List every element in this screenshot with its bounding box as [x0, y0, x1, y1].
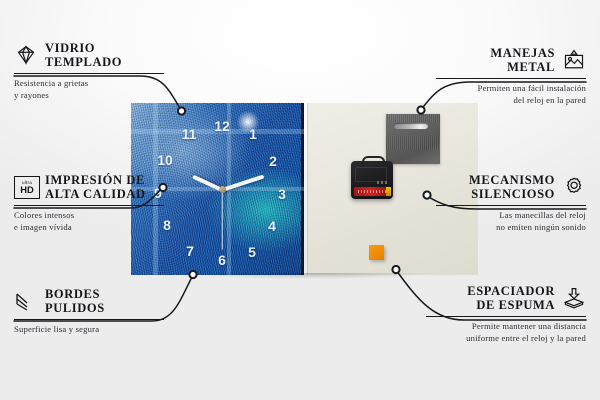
- ultra-hd-icon-big-text: HD: [20, 185, 34, 195]
- callout-divider: [426, 316, 586, 317]
- clock-numeral-2: 2: [264, 154, 282, 168]
- metal-hanger-plate: [386, 114, 440, 164]
- product-photo-group: 12 1 2 3 4 5 6 7 8 9 10 11: [131, 103, 478, 275]
- foam-spacer-arrow-icon: [562, 286, 586, 310]
- battery-label-stripes: [358, 190, 386, 193]
- clock-numeral-5: 5: [243, 245, 261, 259]
- callout-divider: [14, 205, 164, 206]
- callout-subtitle-line-2: del reloj en la pared: [436, 95, 586, 107]
- callout-header: VIDRIO TEMPLADO: [14, 41, 164, 69]
- callout-title: MECANISMO SILENCIOSO: [469, 173, 555, 201]
- callout-subtitle-line-1: Resistencia a grietas: [14, 78, 164, 90]
- movement-seam: [355, 167, 387, 182]
- callout-subtitle-line-1: Superficie lisa y segura: [14, 324, 164, 336]
- clock-numeral-10: 10: [156, 153, 174, 167]
- callout-title: IMPRESIÓN DE ALTA CALIDAD: [45, 173, 146, 201]
- callout-tempered-glass: VIDRIO TEMPLADO Resistencia a grietas y …: [14, 41, 164, 101]
- gear-icon: [562, 175, 586, 199]
- callout-subtitle-line-2: y rayones: [14, 90, 164, 102]
- movement-vent-dots: [377, 181, 389, 184]
- callout-header: MANEJAS METAL: [436, 46, 586, 74]
- callout-header: ESPACIADOR DE ESPUMA: [426, 284, 586, 312]
- callout-subtitle-line-1: Permite mantener una distancia: [426, 321, 586, 333]
- callout-subtitle-line-2: e imagen vívida: [14, 222, 164, 234]
- callout-subtitle-line-1: Permiten una fácil instalación: [436, 83, 586, 95]
- clock-numeral-4: 4: [263, 219, 281, 233]
- diamond-icon: [14, 43, 38, 67]
- callout-foam-spacer: ESPACIADOR DE ESPUMA Permite mantener un…: [426, 284, 586, 344]
- hanger-slot: [394, 123, 428, 129]
- clock-second-hand: [221, 190, 222, 250]
- callout-header: BORDES PULIDOS: [14, 287, 164, 315]
- clock-numeral-3: 3: [273, 187, 291, 201]
- callout-polished-edges: BORDES PULIDOS Superficie lisa y segura: [14, 287, 164, 336]
- picture-hanger-icon: [562, 48, 586, 72]
- infographic-canvas: 12 1 2 3 4 5 6 7 8 9 10 11: [0, 0, 600, 400]
- callout-subtitle-line-2: uniforme entre el reloj y la pared: [426, 333, 586, 345]
- clock-numeral-1: 1: [244, 127, 262, 141]
- quartz-movement: [351, 161, 393, 199]
- clock-numeral-6: 6: [213, 253, 231, 267]
- callout-divider: [14, 319, 164, 320]
- callout-subtitle-line-1: Las manecillas del reloj: [436, 210, 586, 222]
- callout-subtitle-line-2: no emiten ningún sonido: [436, 222, 586, 234]
- callout-silent-mechanism: MECANISMO SILENCIOSO Las manecillas del …: [436, 173, 586, 233]
- foam-spacer: [369, 245, 384, 260]
- callout-divider: [14, 73, 164, 74]
- clock-center-cap: [219, 186, 226, 193]
- callout-metal-handles: MANEJAS METAL Permiten una fácil instala…: [436, 46, 586, 106]
- callout-title: VIDRIO TEMPLADO: [45, 41, 122, 69]
- clock-numeral-7: 7: [181, 244, 199, 258]
- battery-label: [354, 187, 390, 196]
- polished-edges-icon: [14, 289, 38, 313]
- callout-title: BORDES PULIDOS: [45, 287, 105, 315]
- movement-hanging-loop: [362, 156, 385, 167]
- clock-numeral-12: 12: [213, 119, 231, 133]
- callout-header: ultra HD IMPRESIÓN DE ALTA CALIDAD: [14, 173, 164, 201]
- callout-divider: [436, 78, 586, 79]
- clock-numeral-11: 11: [180, 127, 198, 141]
- callout-subtitle-line-1: Colores intensos: [14, 210, 164, 222]
- callout-title: ESPACIADOR DE ESPUMA: [467, 284, 555, 312]
- callout-header: MECANISMO SILENCIOSO: [436, 173, 586, 201]
- ultra-hd-icon: ultra HD: [14, 175, 38, 199]
- callout-hd-print: ultra HD IMPRESIÓN DE ALTA CALIDAD Color…: [14, 173, 164, 233]
- callout-title: MANEJAS METAL: [490, 46, 555, 74]
- callout-divider: [436, 205, 586, 206]
- battery-terminal: [386, 187, 391, 196]
